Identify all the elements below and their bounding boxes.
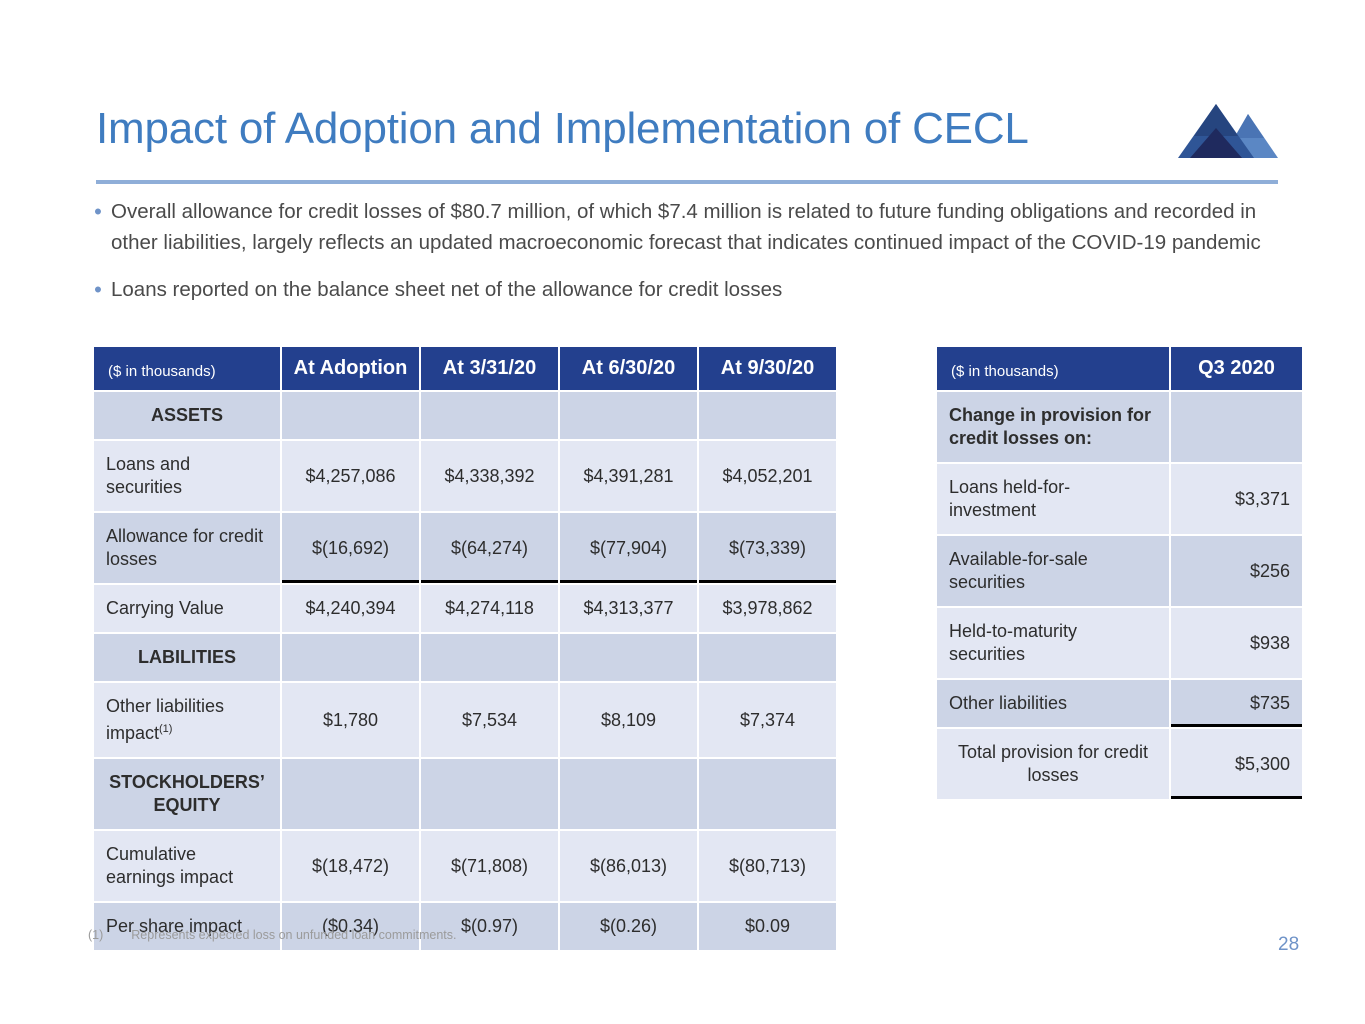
cell: $7,374 [699,683,836,757]
bullet-text: Loans reported on the balance sheet net … [111,274,1275,305]
table-row: STOCKHOLDERS’ EQUITY [94,759,836,829]
footnote: (1) Represents expected loss on unfunded… [88,928,456,942]
cell: $4,313,377 [560,585,697,632]
cell [282,392,419,439]
table-header-row: ($ in thousands) At Adoption At 3/31/20 … [94,347,836,390]
slide-header: Impact of Adoption and Implementation of… [96,98,1278,188]
cell: $7,534 [421,683,558,757]
row-label: Other liabilities [937,680,1169,727]
row-label: STOCKHOLDERS’ EQUITY [94,759,280,829]
cell: $(0.97) [421,903,558,950]
page-title: Impact of Adoption and Implementation of… [96,98,1278,160]
table-header-row: ($ in thousands) Q3 2020 [937,347,1302,390]
cell [282,759,419,829]
row-label: Total provision for credit losses [937,729,1169,799]
column-header-at-adoption: At Adoption [282,347,419,390]
table-row: ASSETS [94,392,836,439]
column-header-q2: At 6/30/20 [560,347,697,390]
footnote-marker: (1) [88,928,103,942]
cell: $4,240,394 [282,585,419,632]
provision-change-table: ($ in thousands) Q3 2020 Change in provi… [935,345,1304,801]
column-header-units: ($ in thousands) [94,347,280,390]
bullet-dot-icon: • [85,274,111,305]
cell: $4,274,118 [421,585,558,632]
cell [699,634,836,681]
table-row: LABILITIES [94,634,836,681]
table-row: Change in provision for credit losses on… [937,392,1302,462]
page-number: 28 [1278,934,1299,956]
cell: $4,338,392 [421,441,558,511]
table-row: Loans held-for-investment $3,371 [937,464,1302,534]
bullet-text: Overall allowance for credit losses of $… [111,196,1275,258]
title-divider [96,180,1278,184]
cell: $3,371 [1171,464,1302,534]
column-header-q3-2020: Q3 2020 [1171,347,1302,390]
row-label: Carrying Value [94,585,280,632]
cell [1171,392,1302,462]
cell [560,392,697,439]
mountain-logo-icon [1178,100,1278,162]
balance-sheet-impact-table: ($ in thousands) At Adoption At 3/31/20 … [92,345,838,952]
table-row: Available-for-sale securities $256 [937,536,1302,606]
cell: $(73,339) [699,513,836,583]
cell: $(64,274) [421,513,558,583]
bullet-list: • Overall allowance for credit losses of… [85,196,1275,321]
cell [560,759,697,829]
cell: $938 [1171,608,1302,678]
cell: $(18,472) [282,831,419,901]
table-row: Other liabilities $735 [937,680,1302,727]
list-item: • Overall allowance for credit losses of… [85,196,1275,258]
row-label: Loans and securities [94,441,280,511]
cell: $8,109 [560,683,697,757]
cell: $4,052,201 [699,441,836,511]
cell [421,392,558,439]
cell [282,634,419,681]
table-row: Other liabilities impact(1) $1,780 $7,53… [94,683,836,757]
cell: $(86,013) [560,831,697,901]
cell [560,634,697,681]
row-label: Other liabilities impact(1) [94,683,280,757]
table-row: Allowance for credit losses $(16,692) $(… [94,513,836,583]
row-label: Loans held-for-investment [937,464,1169,534]
column-header-units: ($ in thousands) [937,347,1169,390]
cell [699,392,836,439]
column-header-q3: At 9/30/20 [699,347,836,390]
row-label: Change in provision for credit losses on… [937,392,1169,462]
cell [421,759,558,829]
cell: $(0.26) [560,903,697,950]
table-row: Carrying Value $4,240,394 $4,274,118 $4,… [94,585,836,632]
table-row: Loans and securities $4,257,086 $4,338,3… [94,441,836,511]
cell: $4,391,281 [560,441,697,511]
row-label: Per share impact [94,903,280,950]
bullet-dot-icon: • [85,196,111,227]
row-label: Held-to-maturity securities [937,608,1169,678]
cell: $(71,808) [421,831,558,901]
column-header-q1: At 3/31/20 [421,347,558,390]
row-label: ASSETS [94,392,280,439]
cell: $(80,713) [699,831,836,901]
cell: ($0.34) [282,903,419,950]
table-row: Per share impact ($0.34) $(0.97) $(0.26)… [94,903,836,950]
cell [699,759,836,829]
cell: $(77,904) [560,513,697,583]
table-row: Held-to-maturity securities $938 [937,608,1302,678]
cell: $0.09 [699,903,836,950]
footnote-marker: (1) [159,723,172,735]
list-item: • Loans reported on the balance sheet ne… [85,274,1275,305]
cell: $5,300 [1171,729,1302,799]
cell [421,634,558,681]
cell: $735 [1171,680,1302,727]
row-label: Allowance for credit losses [94,513,280,583]
footnote-text: Represents expected loss on unfunded loa… [131,928,456,942]
cell: $256 [1171,536,1302,606]
row-label: LABILITIES [94,634,280,681]
cell: $1,780 [282,683,419,757]
row-label-text: Other liabilities impact [106,696,224,743]
cell: $4,257,086 [282,441,419,511]
table-row: Total provision for credit losses $5,300 [937,729,1302,799]
row-label: Available-for-sale securities [937,536,1169,606]
cell: $(16,692) [282,513,419,583]
table-row: Cumulative earnings impact $(18,472) $(7… [94,831,836,901]
cell: $3,978,862 [699,585,836,632]
row-label: Cumulative earnings impact [94,831,280,901]
